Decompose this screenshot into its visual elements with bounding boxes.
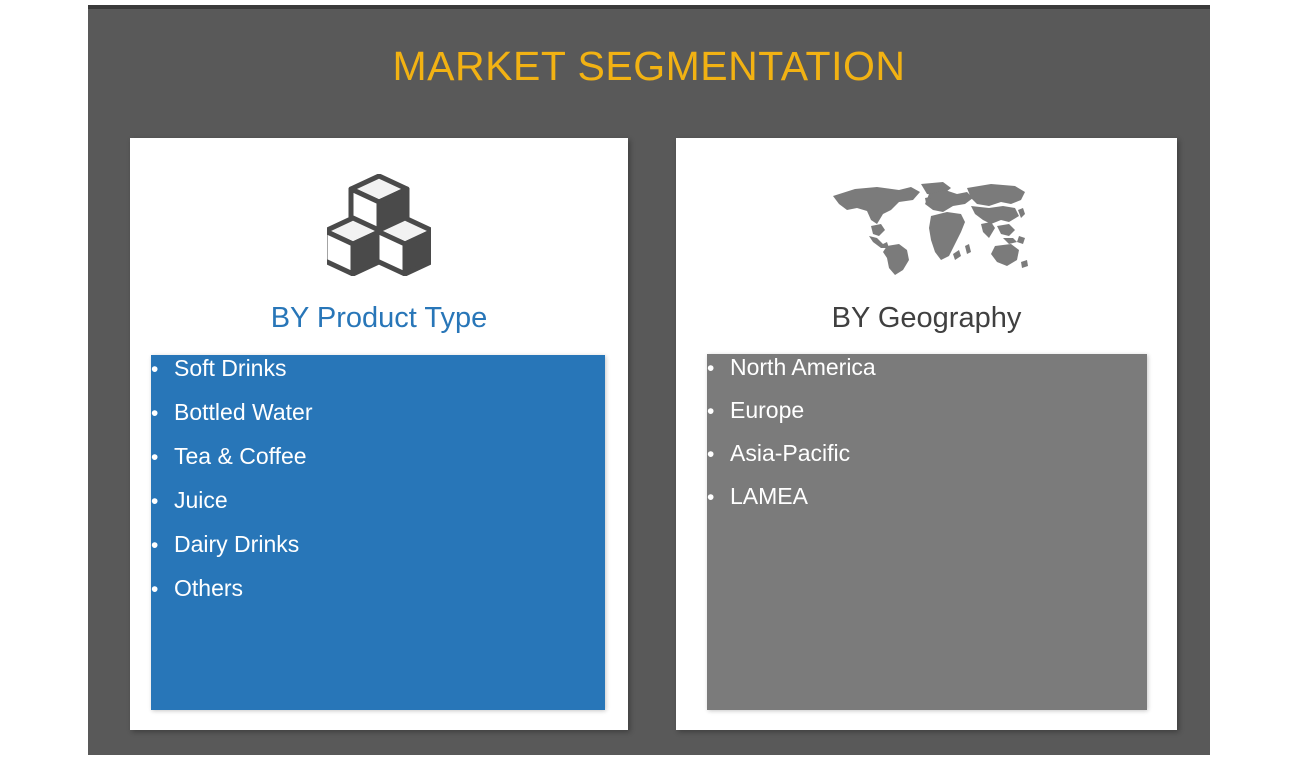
list-item: • Dairy Drinks xyxy=(151,531,605,575)
bullet-dot-icon: • xyxy=(151,447,174,468)
bullet-dot-icon: • xyxy=(151,579,174,600)
list-item: • Tea & Coffee xyxy=(151,443,605,487)
bullet-list-geography: • North America • Europe • Asia-Pacific … xyxy=(707,354,1147,526)
bullet-dot-icon: • xyxy=(151,403,174,424)
list-box-product-type: • Soft Drinks • Bottled Water • Tea & Co… xyxy=(151,355,605,710)
panel-card-geography: BY Geography • North America • Europe • … xyxy=(676,138,1177,730)
slide-canvas: MARKET SEGMENTATION xyxy=(0,0,1305,769)
list-item: • Others xyxy=(151,575,605,619)
list-item-label: Asia-Pacific xyxy=(730,440,850,467)
bullet-dot-icon: • xyxy=(707,358,730,379)
list-item-label: Others xyxy=(174,575,243,602)
bullet-dot-icon: • xyxy=(151,535,174,556)
bullet-list-product-type: • Soft Drinks • Bottled Water • Tea & Co… xyxy=(151,355,605,619)
list-item-label: Tea & Coffee xyxy=(174,443,307,470)
list-item-label: Juice xyxy=(174,487,228,514)
list-item-label: Dairy Drinks xyxy=(174,531,299,558)
list-item: • Soft Drinks xyxy=(151,355,605,399)
list-item: • LAMEA xyxy=(707,483,1147,526)
bullet-dot-icon: • xyxy=(707,444,730,465)
list-item: • North America xyxy=(707,354,1147,397)
list-item-label: Bottled Water xyxy=(174,399,312,426)
list-item-label: North America xyxy=(730,354,876,381)
stacked-cubes-icon xyxy=(130,166,628,276)
list-item: • Asia-Pacific xyxy=(707,440,1147,483)
bullet-dot-icon: • xyxy=(707,401,730,422)
list-item-label: Europe xyxy=(730,397,804,424)
world-map-icon xyxy=(676,166,1177,276)
list-box-geography: • North America • Europe • Asia-Pacific … xyxy=(707,354,1147,710)
list-item: • Europe xyxy=(707,397,1147,440)
list-item: • Juice xyxy=(151,487,605,531)
page-title: MARKET SEGMENTATION xyxy=(88,44,1210,89)
panel-heading-geography: BY Geography xyxy=(676,302,1177,335)
panel-card-product-type: BY Product Type • Soft Drinks • Bottled … xyxy=(130,138,628,730)
bullet-dot-icon: • xyxy=(707,487,730,508)
bullet-dot-icon: • xyxy=(151,359,174,380)
list-item-label: Soft Drinks xyxy=(174,355,286,382)
panel-heading-product-type: BY Product Type xyxy=(130,302,628,335)
list-item: • Bottled Water xyxy=(151,399,605,443)
list-item-label: LAMEA xyxy=(730,483,808,510)
bullet-dot-icon: • xyxy=(151,491,174,512)
